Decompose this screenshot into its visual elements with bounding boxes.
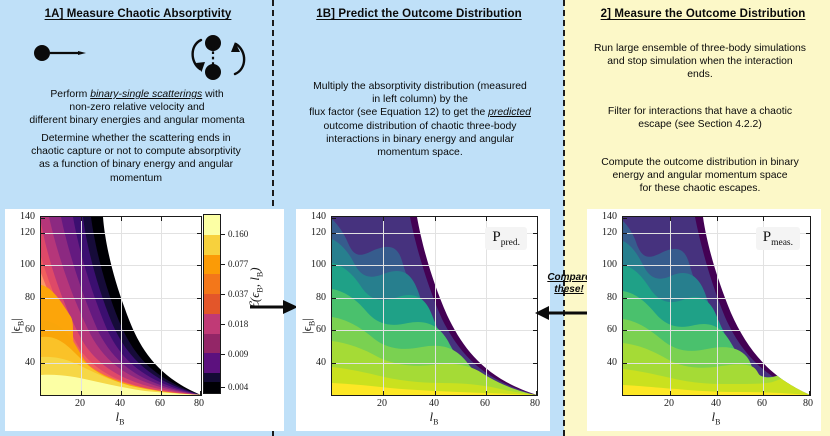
- cb-tick-label: 0.160: [228, 229, 248, 239]
- xtick-label: 80: [793, 398, 823, 409]
- badge-p-meas: Pmeas.: [756, 227, 800, 250]
- tick-y: [332, 298, 336, 299]
- tick-y: [623, 298, 627, 299]
- colorbar-gradient: [203, 214, 221, 394]
- badge-p-pred-main: P: [492, 229, 500, 245]
- badge-p-meas-main: P: [763, 229, 771, 245]
- tick-x: [81, 391, 82, 395]
- cb-tick-label: 0.018: [228, 319, 248, 329]
- badge-p-meas-sub: meas.: [771, 238, 793, 248]
- badge-p-pred-sub: pred.: [501, 238, 520, 248]
- axes-measured: Pmeas.: [622, 216, 811, 396]
- tick-y: [41, 218, 45, 219]
- cb-tick-label: 0.004: [228, 382, 248, 392]
- gridline-v: [435, 217, 436, 395]
- ytick-label: 40: [585, 357, 617, 368]
- figure-root: 1A] Measure Chaotic Absorptivity Perform…: [0, 0, 830, 436]
- gridline-h: [332, 298, 537, 299]
- cb-swatch: [204, 274, 220, 294]
- gridline-h: [41, 265, 201, 266]
- tick-y: [623, 218, 627, 219]
- compare-line-2: these!: [554, 284, 583, 295]
- cb-tick: [221, 387, 225, 388]
- tick-x: [717, 391, 718, 395]
- ytick-label: 120: [294, 227, 326, 238]
- cb-title-sub2: B: [256, 272, 265, 277]
- tick-y: [332, 330, 336, 331]
- ytick-label: 80: [585, 292, 617, 303]
- xtick-label: 80: [520, 398, 550, 409]
- divider-line-2: [563, 0, 565, 436]
- tick-y: [332, 363, 336, 364]
- cb-tick: [221, 234, 225, 235]
- xaxis-title: lB: [90, 409, 150, 427]
- cb-swatch: [204, 255, 220, 275]
- ytick-label: 140: [3, 211, 35, 222]
- ytick-label: 60: [585, 324, 617, 335]
- gridline-h: [41, 363, 201, 364]
- ytick-label: 100: [585, 259, 617, 270]
- ytick-label: 80: [294, 292, 326, 303]
- tick-x-top: [717, 217, 718, 221]
- tick-y-right: [806, 363, 810, 364]
- cb-swatch: [204, 382, 220, 393]
- xaxis-title-sub: B: [715, 418, 720, 427]
- gridline-v: [81, 217, 82, 395]
- ytick-label: 100: [3, 259, 35, 270]
- axes-absorptivity: [40, 216, 202, 396]
- tick-y-right: [197, 298, 201, 299]
- tick-x: [536, 391, 537, 395]
- gridline-v: [121, 217, 122, 395]
- tick-y-right: [806, 330, 810, 331]
- tick-x: [161, 391, 162, 395]
- tick-y-right: [197, 330, 201, 331]
- ytick-label: 120: [585, 227, 617, 238]
- ytick-label: 80: [3, 292, 35, 303]
- colorbar-absorptivity: 0.160 0.077 0.037 0.018 0.009 0.004: [203, 214, 221, 394]
- tick-x-top: [121, 217, 122, 221]
- cb-tick-label: 0.009: [228, 349, 248, 359]
- cb-swatch: [204, 314, 220, 334]
- gridline-h: [332, 363, 537, 364]
- ytick-label: 100: [294, 259, 326, 270]
- gridline-v: [383, 217, 384, 395]
- xtick-label: 20: [65, 398, 95, 409]
- yaxis-title-main: |ϵ: [299, 326, 314, 334]
- tick-y-right: [533, 298, 537, 299]
- tick-x: [670, 391, 671, 395]
- plot-card-predicted: Ppred. 140 120 100 80 60 40 20 40 60 80 …: [296, 209, 550, 431]
- cb-tick: [221, 354, 225, 355]
- cb-title-p3: ): [247, 267, 262, 271]
- panel-1a-paragraph-1: Perform binary-single scatterings withno…: [8, 88, 266, 128]
- xtick-label: 60: [747, 398, 777, 409]
- tick-x: [486, 391, 487, 395]
- cb-tick: [221, 324, 225, 325]
- panel-2-paragraph-2: Filter for interactions that have a chao…: [574, 105, 826, 131]
- tick-x: [763, 391, 764, 395]
- tick-y: [623, 330, 627, 331]
- badge-p-pred: Ppred.: [485, 227, 527, 250]
- axes-predicted: Ppred.: [331, 216, 538, 396]
- gridline-h: [332, 330, 537, 331]
- xtick-label: 40: [701, 398, 731, 409]
- cb-swatch: [204, 294, 220, 314]
- tick-y: [41, 298, 45, 299]
- yaxis-title-end: |: [8, 318, 23, 321]
- tick-y: [332, 233, 336, 234]
- xaxis-title-sub: B: [119, 418, 124, 427]
- cb-swatch: [204, 215, 220, 235]
- binary-single-cartoon: [20, 34, 260, 82]
- ytick-label: 40: [3, 357, 35, 368]
- xtick-label: 20: [654, 398, 684, 409]
- cb-tick: [221, 264, 225, 265]
- tick-x-top: [670, 217, 671, 221]
- xtick-label: 20: [367, 398, 397, 409]
- gridline-h: [623, 363, 810, 364]
- tick-y-right: [806, 298, 810, 299]
- xaxis-title: lB: [686, 409, 746, 427]
- yaxis-title-end: |: [299, 318, 314, 321]
- tick-y: [623, 233, 627, 234]
- cb-title-p2: , l: [247, 277, 262, 287]
- tick-x-top: [486, 217, 487, 221]
- yaxis-title-sub: B: [17, 321, 26, 326]
- tick-y-right: [533, 233, 537, 234]
- yaxis-title-main: |ϵ: [8, 326, 23, 334]
- xaxis-title-sub: B: [433, 418, 438, 427]
- velocity-arrow-icon: [50, 51, 86, 55]
- tick-y: [41, 363, 45, 364]
- panel-2-paragraph-3: Compute the outcome distribution in bina…: [574, 156, 826, 196]
- plot-card-measured: Pmeas. 140 120 100 80 60 40 20 40 60 80 …: [587, 209, 821, 431]
- yaxis-title: |ϵB|: [8, 318, 26, 334]
- tick-y-right: [533, 363, 537, 364]
- yaxis-title: |ϵB|: [299, 318, 317, 334]
- tick-y: [623, 363, 627, 364]
- panel-1b-paragraph-1: Multiply the absorptivity distribution (…: [286, 80, 554, 159]
- tick-x-top: [81, 217, 82, 221]
- tick-y-right: [533, 265, 537, 266]
- gridline-h: [41, 330, 201, 331]
- cb-tick-label: 0.037: [228, 289, 248, 299]
- tick-y: [41, 233, 45, 234]
- gridline-v: [161, 217, 162, 395]
- tick-y-right: [197, 265, 201, 266]
- gridline-v: [717, 217, 718, 395]
- xtick-label: 60: [145, 398, 175, 409]
- tick-y: [623, 265, 627, 266]
- tick-x: [435, 391, 436, 395]
- cb-tick: [221, 294, 225, 295]
- xtick-label: 40: [105, 398, 135, 409]
- tick-y-right: [533, 330, 537, 331]
- gridline-h: [332, 265, 537, 266]
- tick-x-top: [435, 217, 436, 221]
- gridline-h: [41, 298, 201, 299]
- cb-swatch: [204, 353, 220, 373]
- arrow-right-1-icon: [250, 297, 300, 317]
- gridline-h: [623, 330, 810, 331]
- tick-y-right: [806, 233, 810, 234]
- xtick-label: 80: [184, 398, 214, 409]
- tick-x: [121, 391, 122, 395]
- yaxis-title-sub: B: [308, 321, 317, 326]
- panel-title-1b: 1B] Predict the Outcome Distribution: [288, 8, 550, 20]
- xtick-label: 60: [470, 398, 500, 409]
- cb-title-sub1: B: [256, 287, 265, 292]
- tick-x: [200, 391, 201, 395]
- ytick-label: 120: [3, 227, 35, 238]
- ytick-label: 40: [294, 357, 326, 368]
- gridline-v: [670, 217, 671, 395]
- compare-line-1: Compare: [547, 272, 590, 283]
- tick-y: [41, 265, 45, 266]
- tick-y-right: [197, 363, 201, 364]
- single-star-dot-icon: [34, 45, 50, 61]
- gridline-h: [41, 233, 201, 234]
- orbit-arrows-icon: [180, 32, 256, 84]
- tick-y: [332, 265, 336, 266]
- gridline-h: [623, 265, 810, 266]
- gridline-h: [623, 298, 810, 299]
- tick-y-right: [197, 233, 201, 234]
- tick-y: [41, 330, 45, 331]
- cb-swatch: [204, 334, 220, 354]
- tick-y: [332, 218, 336, 219]
- tick-y-right: [806, 265, 810, 266]
- tick-x: [809, 391, 810, 395]
- panel-title-2: 2] Measure the Outcome Distribution: [578, 8, 828, 20]
- xtick-label: 40: [419, 398, 449, 409]
- panel-1a-paragraph-2: Determine whether the scattering ends in…: [4, 132, 268, 185]
- tick-x: [383, 391, 384, 395]
- cb-tick-label: 0.077: [228, 259, 248, 269]
- tick-x-top: [161, 217, 162, 221]
- cb-swatch: [204, 235, 220, 255]
- ytick-label: 140: [294, 211, 326, 222]
- tick-x-top: [763, 217, 764, 221]
- xaxis-title: lB: [404, 409, 464, 427]
- ytick-label: 140: [585, 211, 617, 222]
- tick-x-top: [383, 217, 384, 221]
- panel-2-paragraph-1: Run large ensemble of three-body simulat…: [574, 42, 826, 82]
- panel-title-1a: 1A] Measure Chaotic Absorptivity: [20, 8, 256, 20]
